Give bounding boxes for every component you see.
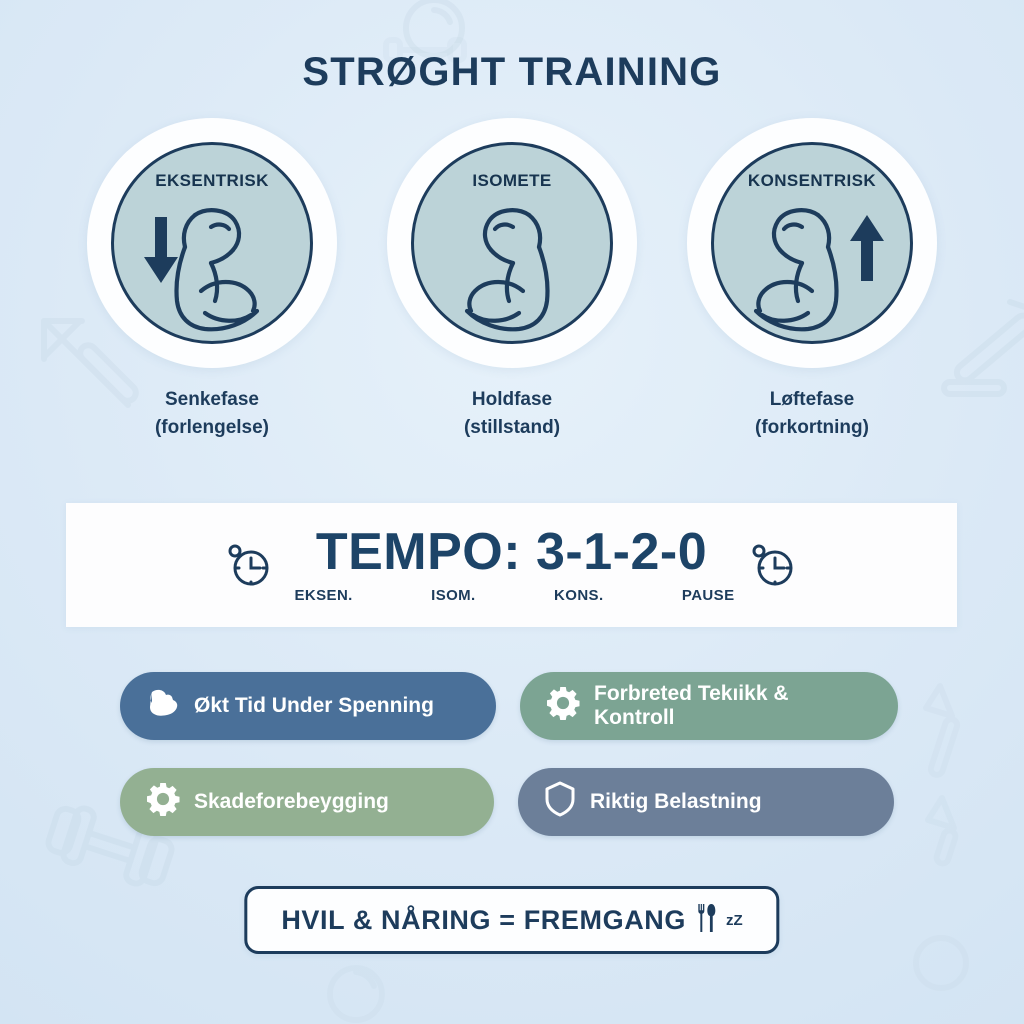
footer-callout-box[interactable]: HVIL & NÅRING = FREMGANG zZ xyxy=(244,886,779,954)
phase-disc: KONSENTRISK xyxy=(711,142,913,344)
phase-disc: ISOMETE xyxy=(411,142,613,344)
tempo-card: TEMPO: 3-1-2-0 EKSEN. ISOM. KONS. PAUSE xyxy=(66,503,957,627)
tempo-sublabel-pause: PAUSE xyxy=(682,587,735,604)
gear-icon xyxy=(546,686,580,726)
phase-caption-line1: Senkefase xyxy=(155,386,269,414)
tempo-sublabel-kons: KONS. xyxy=(554,587,604,604)
phase-caption-line2: (forkortning) xyxy=(755,414,869,442)
tempo-sublabels: EKSEN. ISOM. KONS. PAUSE xyxy=(289,587,735,604)
clock-icon-left xyxy=(227,538,273,593)
benefit-pill-skadeforebygging[interactable]: Skadeforebeygging xyxy=(120,768,494,836)
tempo-sublabel-eksen: EKSEN. xyxy=(295,587,353,604)
phase-card-isometric[interactable]: ISOMETE xyxy=(383,118,641,441)
phase-circle-row: EKSENTRISK xyxy=(0,118,1024,441)
benefit-pill-group: Økt Tid Under Spenning Forbreted Tekıikk… xyxy=(120,672,910,836)
clock-icon-right xyxy=(751,538,797,593)
footer-text: HVIL & NÅRING = FREMGANG xyxy=(281,905,686,936)
phase-card-concentric[interactable]: KONSENTRISK xyxy=(683,118,941,441)
benefit-pill-riktig-belastning[interactable]: Riktig Belastning xyxy=(518,768,894,836)
watermark-circle-right-icon xyxy=(908,930,974,1001)
phase-caption-line1: Holdfase xyxy=(464,386,560,414)
bicep-arm-icon xyxy=(414,205,610,333)
benefit-pill-label: Økt Tid Under Spenning xyxy=(194,694,434,718)
phase-halo: ISOMETE xyxy=(387,118,637,368)
shield-icon xyxy=(544,781,576,823)
bicep-arm-icon xyxy=(714,205,934,333)
phase-caption-line2: (stillstand) xyxy=(464,414,560,442)
phase-badge-label: ISOMETE xyxy=(414,171,610,191)
page-title: STRØGHT TRAINING xyxy=(0,50,1024,95)
phase-caption-line1: Løftefase xyxy=(755,386,869,414)
bicep-icon xyxy=(146,686,180,726)
tempo-headline: TEMPO: 3-1-2-0 xyxy=(316,526,707,578)
phase-halo: KONSENTRISK xyxy=(687,118,937,368)
sleep-zz-icon: zZ xyxy=(726,912,743,929)
watermark-circle-icon xyxy=(322,960,390,1024)
phase-disc: EKSENTRISK xyxy=(111,142,313,344)
watermark-arrow-pair-icon xyxy=(912,672,1022,877)
tempo-sublabel-isom: ISOM. xyxy=(431,587,476,604)
phase-halo: EKSENTRISK xyxy=(87,118,337,368)
bicep-arm-icon xyxy=(114,205,310,333)
benefit-pill-teknikk-kontroll[interactable]: Forbreted Tekıikk & Kontroll xyxy=(520,672,898,740)
benefit-pill-label: Forbreted Tekıikk & Kontroll xyxy=(594,682,872,730)
tempo-inner: TEMPO: 3-1-2-0 EKSEN. ISOM. KONS. PAUSE xyxy=(227,526,797,604)
phase-badge-label: EKSENTRISK xyxy=(114,171,310,191)
gear-icon xyxy=(146,782,180,822)
phase-badge-label: KONSENTRISK xyxy=(714,171,910,191)
phase-caption: Løftefase (forkortning) xyxy=(755,386,869,441)
fork-knife-icon xyxy=(696,903,718,938)
benefit-pill-label: Riktig Belastning xyxy=(590,790,762,814)
benefit-pill-tid-under-spenning[interactable]: Økt Tid Under Spenning xyxy=(120,672,496,740)
phase-caption: Holdfase (stillstand) xyxy=(464,386,560,441)
benefit-pill-label: Skadeforebeygging xyxy=(194,790,389,814)
phase-caption-line2: (forlengelse) xyxy=(155,414,269,442)
phase-caption: Senkefase (forlengelse) xyxy=(155,386,269,441)
infographic-poster: STRØGHT TRAINING EKSENTRISK xyxy=(0,0,1024,1024)
tempo-text-group: TEMPO: 3-1-2-0 EKSEN. ISOM. KONS. PAUSE xyxy=(289,526,735,604)
phase-card-eccentric[interactable]: EKSENTRISK xyxy=(83,118,341,441)
